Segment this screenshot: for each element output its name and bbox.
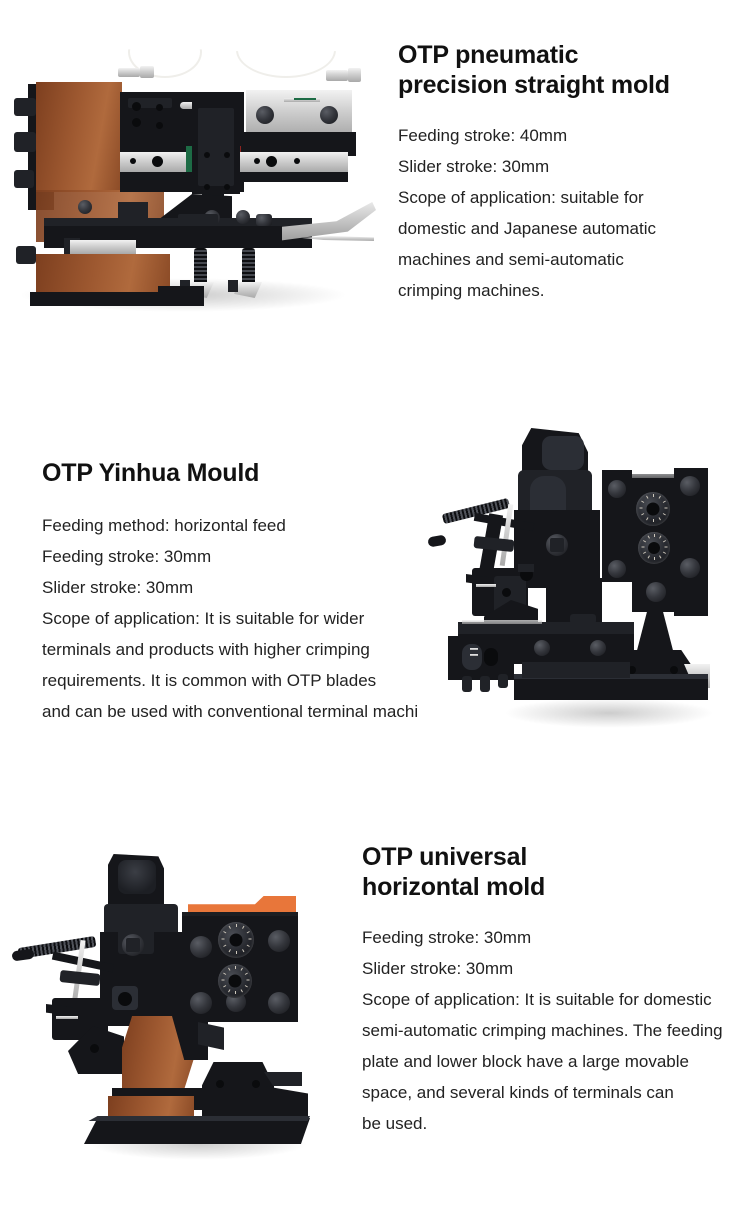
spring-right	[242, 248, 255, 286]
machine-base-plate	[514, 676, 708, 700]
machine-base-plate	[84, 1118, 310, 1144]
product-copy-universal-horizontal-mold: OTP universal horizontal mold Feeding st…	[362, 842, 742, 1139]
spec-line: plate and lower block have a large movab…	[362, 1046, 742, 1077]
spec-line: Feeding stroke: 40mm	[398, 120, 728, 151]
product-image-pneumatic-straight-mold	[8, 42, 380, 314]
product-section-pneumatic-straight-mold: OTP pneumatic precision straight mold Fe…	[0, 0, 750, 380]
product-title-line2: horizontal mold	[362, 872, 742, 902]
spec-line: domestic and Japanese automatic	[398, 213, 728, 244]
spec-line: semi-automatic crimping machines. The fe…	[362, 1015, 742, 1046]
product-section-universal-horizontal-mold: OTP universal horizontal mold Feeding st…	[0, 828, 750, 1228]
pneumatic-hose-right	[236, 42, 336, 78]
spring-left	[194, 248, 207, 286]
spec-line: Slider stroke: 30mm	[398, 151, 728, 182]
product-title-pneumatic-straight-mold: OTP pneumatic precision straight mold	[398, 40, 728, 100]
spec-line: crimping machines.	[398, 275, 728, 306]
adjustment-dial-lower	[638, 532, 670, 564]
spec-line: machines and semi-automatic	[398, 244, 728, 275]
spec-line: Slider stroke: 30mm	[362, 953, 742, 984]
copper-front-plate	[36, 82, 122, 192]
product-title-universal-horizontal-mold: OTP universal horizontal mold	[362, 842, 742, 902]
product-spec-page: OTP pneumatic precision straight mold Fe…	[0, 0, 750, 1229]
adjustment-dial-upper	[218, 922, 254, 958]
spec-line: Scope of application: It is suitable for…	[362, 984, 742, 1015]
support-block	[202, 1062, 274, 1120]
product-title-line1: OTP pneumatic	[398, 40, 728, 70]
product-section-yinhua-mould: OTP Yinhua Mould Feeding method: horizon…	[0, 400, 750, 800]
spec-line: be used.	[362, 1108, 742, 1139]
product-title-line1: OTP universal	[362, 842, 742, 872]
spec-line: Feeding stroke: 30mm	[362, 922, 742, 953]
adjustment-dial-upper	[636, 492, 670, 526]
spec-line: space, and several kinds of terminals ca…	[362, 1077, 742, 1108]
spec-line: Scope of application: suitable for	[398, 182, 728, 213]
product-image-universal-horizontal-mold	[12, 840, 338, 1170]
product-copy-pneumatic-straight-mold: OTP pneumatic precision straight mold Fe…	[398, 40, 728, 306]
product-title-line2: precision straight mold	[398, 70, 728, 100]
adjustment-dial-lower	[218, 964, 252, 998]
product-image-yinhua-mould	[418, 418, 736, 736]
